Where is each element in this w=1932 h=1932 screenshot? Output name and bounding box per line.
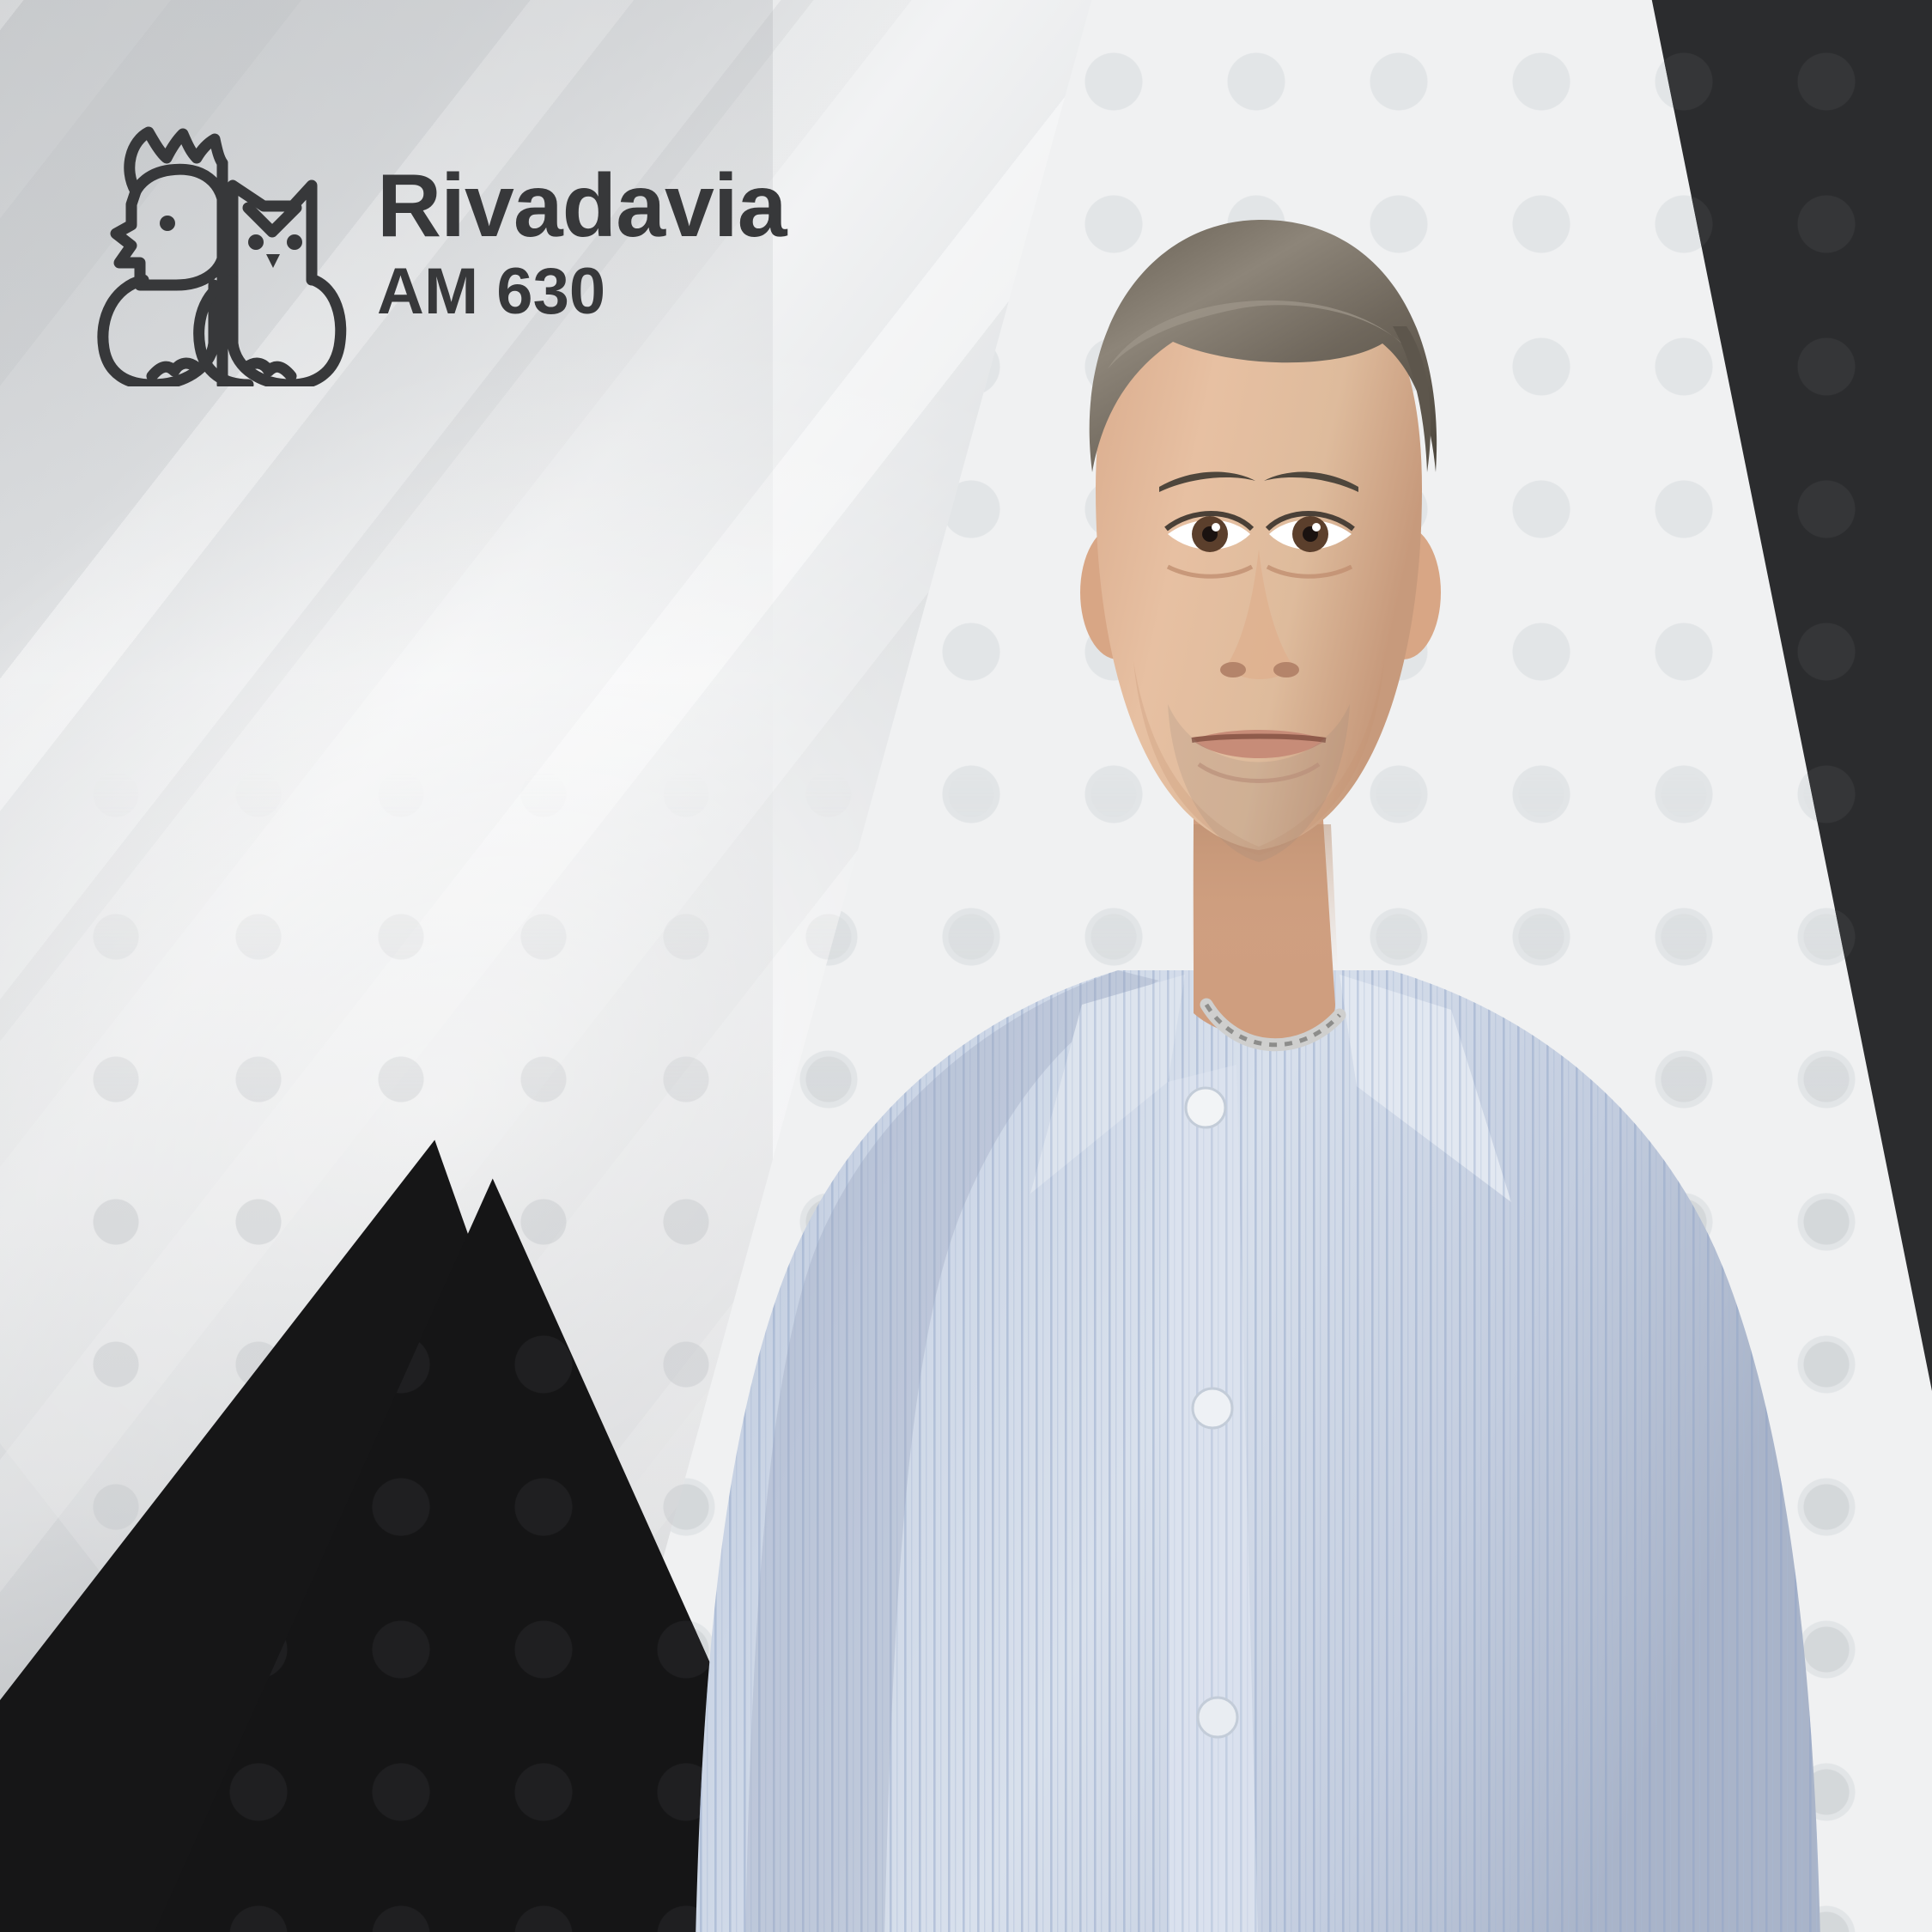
station-name: Rivadavia	[377, 164, 787, 249]
station-frequency: AM 630	[377, 258, 787, 326]
station-logo-text: Rivadavia AM 630	[377, 164, 787, 326]
station-logo[interactable]: Rivadavia AM 630	[82, 103, 787, 386]
radio-show-promo-poster: Rivadavia AM 630 PALACIOS SÁB Y DOM DESD…	[0, 0, 1932, 1932]
shirt-button	[1193, 1388, 1232, 1428]
shirt-button	[1186, 1088, 1225, 1127]
rooster-owl-icon	[82, 103, 348, 386]
shirt-button	[1198, 1698, 1237, 1737]
